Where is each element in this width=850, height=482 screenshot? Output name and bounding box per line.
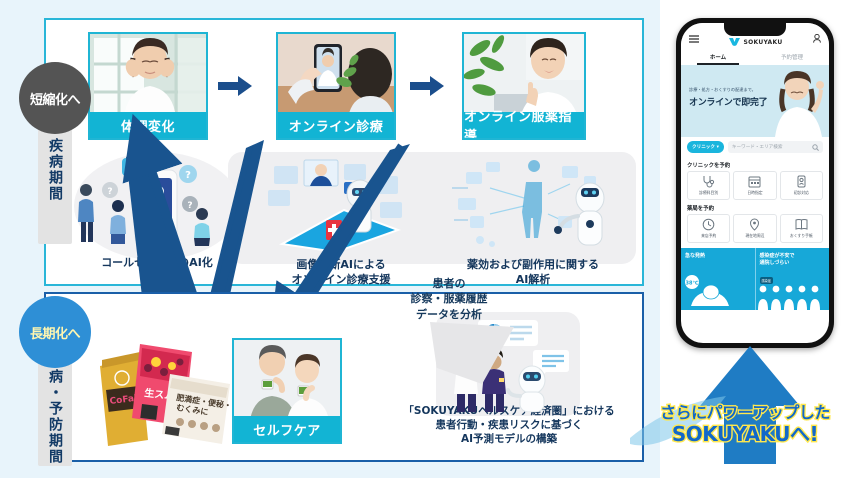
headline-line-2: SOKUYAKUへ! xyxy=(640,423,850,446)
flow-card-selfcare[interactable]: セルフケア xyxy=(232,338,342,444)
infographic-root: 体調変化 xyxy=(0,0,850,478)
banner-infection-text: 感染症が不安で 通院しづらい xyxy=(760,253,826,267)
section-title-clinic: クリニックを予約 xyxy=(681,157,829,171)
tile-label: おくすり手帳 xyxy=(790,233,813,239)
banner-infection-badge: 感染症 xyxy=(760,277,774,284)
search-input[interactable]: キーワード・エリア検索 xyxy=(728,141,823,153)
search-placeholder: キーワード・エリア検索 xyxy=(732,144,783,150)
banner-fever[interactable]: 急な発熱 38℃ xyxy=(681,248,755,310)
map-pin-icon xyxy=(748,218,761,231)
app-logo: SOKUYAKU xyxy=(729,38,782,47)
phone-mockup: SOKUYAKU ホーム 予約管理 診療・処方・おくすりの配達まで。 オンライン… xyxy=(676,18,834,348)
sokuyaku-mark-icon xyxy=(729,38,740,47)
phone-screen: SOKUYAKU ホーム 予約管理 診療・処方・おくすりの配達まで。 オンライン… xyxy=(681,23,829,343)
app-tabs: ホーム 予約管理 xyxy=(681,49,829,65)
tile-clinic-firstvisit[interactable]: 初診対応 xyxy=(780,171,823,200)
tab-reservations[interactable]: 予約管理 xyxy=(755,49,829,65)
chevron-down-icon: ▾ xyxy=(717,145,719,150)
supplement-packs-photo: CoFalie 生スムージー 肥満症・便秘・ むくみに xyxy=(96,338,236,452)
tile-label: 来店予約 xyxy=(701,233,716,239)
phase-label-prevention: 未病・予防期間 xyxy=(38,352,72,466)
fever-badge: 38℃ xyxy=(685,281,698,287)
upgrade-headline: さらにパワーアップした SOKUYAKUへ! xyxy=(640,404,850,446)
banner-infection[interactable]: 感染症が不安で 通院しづらい 感染症 xyxy=(755,248,830,310)
phase-bubble-shorten: 短縮化へ xyxy=(19,62,91,134)
section-title-pharmacy: 薬局を予約 xyxy=(681,200,829,214)
tile-label: 現在地周辺 xyxy=(746,233,765,239)
flow-card-caption: セルフケア xyxy=(234,416,340,442)
search-category-chip[interactable]: クリニック ▾ xyxy=(687,141,724,153)
tile-label: 初診対応 xyxy=(794,190,809,196)
tile-label: 診療科目別 xyxy=(699,190,718,196)
clinic-tile-grid: 診療科目別 日時指定 初診対応 xyxy=(681,171,829,200)
phone-doctor-icon xyxy=(795,175,808,188)
stethoscope-icon xyxy=(702,175,715,188)
clock-icon xyxy=(702,218,715,231)
app-bottom-banner[interactable]: 急な発熱 38℃ 感染症が不安で 通院しづらい 感染症 xyxy=(681,248,829,310)
tile-clinic-datetime[interactable]: 日時指定 xyxy=(733,171,776,200)
tab-home[interactable]: ホーム xyxy=(681,49,755,65)
queue-people-illustration xyxy=(756,284,826,310)
tile-medicine-notebook[interactable]: おくすり手帳 xyxy=(780,214,823,243)
data-analysis-callout: 患者の 診察・服薬履歴 データを分析 xyxy=(390,276,508,322)
tile-pharmacy-nearby[interactable]: 現在地周辺 xyxy=(733,214,776,243)
headline-line-1: さらにパワーアップした xyxy=(640,404,850,423)
female-doctor-pointing-photo xyxy=(767,65,829,137)
calendar-icon xyxy=(748,175,761,188)
banner-fever-text: 急な発熱 xyxy=(685,253,751,260)
tile-clinic-department[interactable]: 診療科目別 xyxy=(687,171,730,200)
hero-title: オンラインで即完了 xyxy=(689,95,767,108)
tile-pharmacy-visit[interactable]: 来店予約 xyxy=(687,214,730,243)
hamburger-menu-icon[interactable] xyxy=(689,28,699,47)
app-search-bar[interactable]: クリニック ▾ キーワード・エリア検索 xyxy=(681,137,829,157)
fever-person-illustration: 38℃ xyxy=(681,270,741,310)
hero-subtitle: 診療・処方・おくすりの配達まで。 xyxy=(689,87,756,93)
app-logo-text: SOKUYAKU xyxy=(743,39,782,46)
book-icon xyxy=(795,218,808,231)
couple-green-drink-photo xyxy=(234,340,340,416)
search-icon xyxy=(812,144,819,151)
app-hero-banner[interactable]: 診療・処方・おくすりの配達まで。 オンラインで即完了 xyxy=(681,65,829,137)
tile-label: 日時指定 xyxy=(747,190,762,196)
phone-notch xyxy=(724,23,786,36)
person-account-icon[interactable] xyxy=(813,28,821,47)
pharmacy-tile-grid: 来店予約 現在地周辺 おくすり手帳 xyxy=(681,214,829,243)
phase-bubble-extend: 長期化へ xyxy=(19,296,91,368)
